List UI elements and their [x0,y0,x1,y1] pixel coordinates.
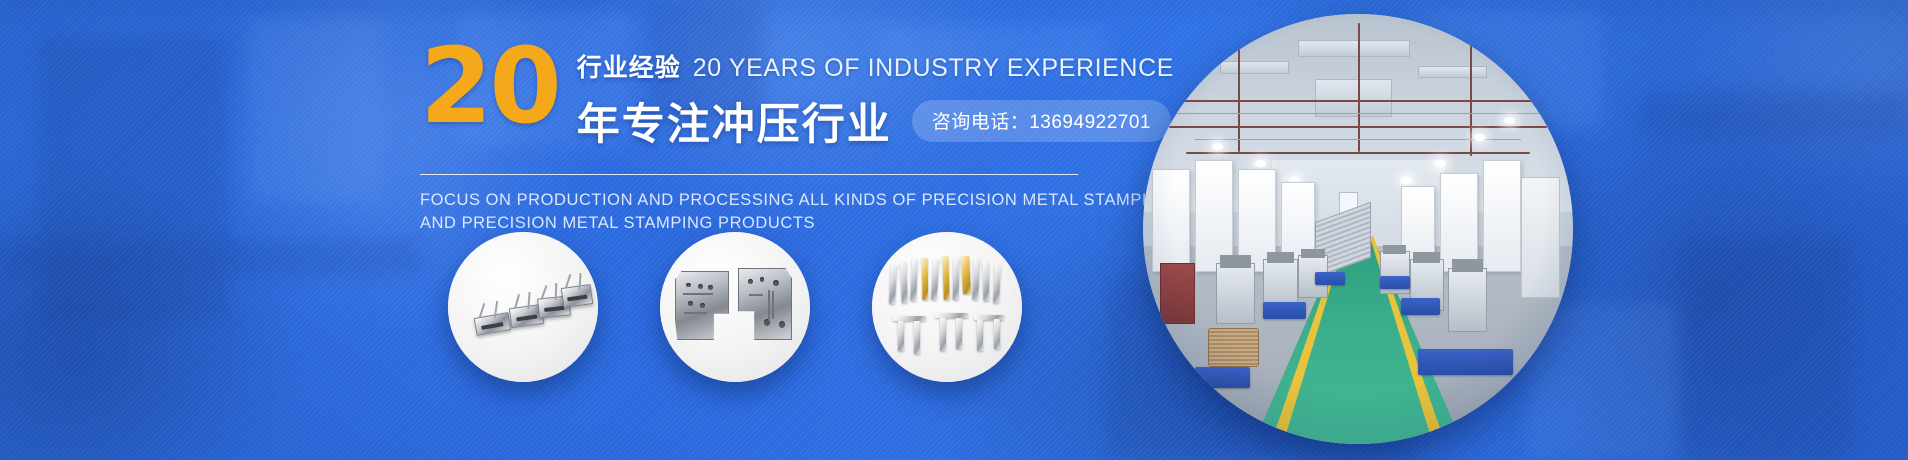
years-number: 20 [420,42,559,131]
usb-connector-shells-photo [448,232,598,382]
stamping-die-set-photo [660,232,810,382]
product-circles [448,232,1022,382]
headline-block: 20 行业经验 20 YEARS OF INDUSTRY EXPERIENCE … [420,42,1100,236]
crimp-terminals-photo [872,232,1022,382]
headline-cn-small: 行业经验 [577,48,681,84]
description-block: FOCUS ON PRODUCTION AND PROCESSING ALL K… [420,189,1100,236]
headline-en-small: 20 YEARS OF INDUSTRY EXPERIENCE [693,54,1174,83]
factory-workshop-photo [1143,14,1573,444]
description-line-1: FOCUS ON PRODUCTION AND PROCESSING ALL K… [420,189,1100,212]
headline-divider [420,174,1078,175]
headline-cn-large: 年专注冲压行业 [577,90,892,152]
phone-badge[interactable]: 咨询电话：13694922701 [912,100,1171,142]
promo-banner: 20 行业经验 20 YEARS OF INDUSTRY EXPERIENCE … [0,0,1908,460]
